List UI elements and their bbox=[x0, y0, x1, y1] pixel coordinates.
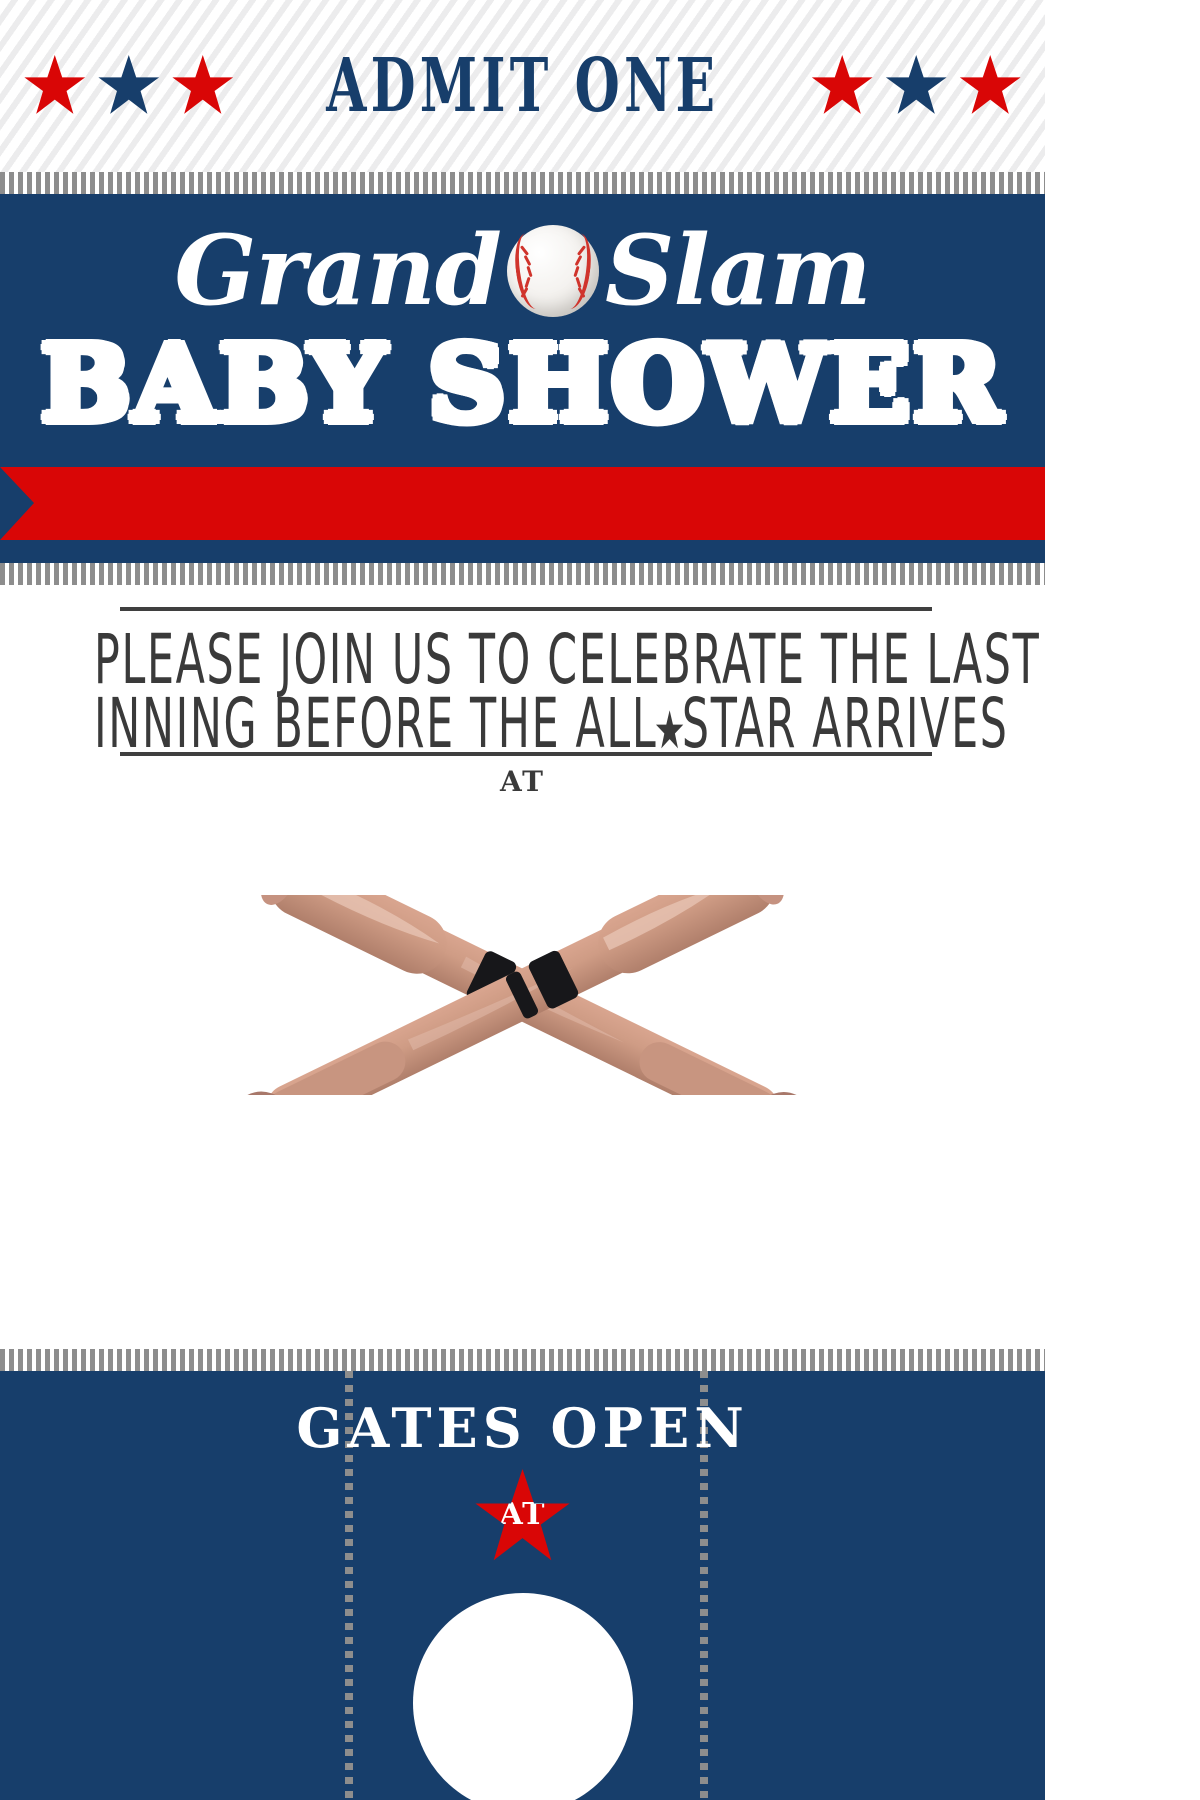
baseball-icon bbox=[507, 225, 599, 317]
red-ribbon-banner bbox=[0, 467, 1045, 540]
star-at-label: AT bbox=[500, 1497, 546, 1532]
invite-line-2: INNING BEFORE THE ALLSTAR ARRIVES bbox=[94, 689, 951, 757]
tick-divider-top bbox=[0, 172, 1045, 194]
gates-open-label: GATES OPEN bbox=[0, 1401, 1045, 1455]
baseball-icon bbox=[413, 1593, 633, 1800]
slam-word: Slam bbox=[605, 223, 871, 319]
invitation-card: ADMIT ONE Grand Slam bbox=[0, 0, 1045, 1800]
baby-shower-title: BABY SHOWER bbox=[0, 332, 1045, 436]
admit-one-label: ADMIT ONE bbox=[326, 49, 719, 123]
divider-rule-top bbox=[120, 607, 932, 611]
divider-rule-bottom bbox=[120, 752, 932, 756]
hero-banner: Grand Slam BABY SHOWER bbox=[0, 194, 1045, 563]
star-icon bbox=[811, 55, 873, 117]
admit-one-header: ADMIT ONE bbox=[0, 0, 1045, 172]
star-icon bbox=[98, 55, 160, 117]
body-section: PLEASE JOIN US TO CELEBRATE THE LAST INN… bbox=[0, 585, 1045, 1349]
star-icon bbox=[959, 55, 1021, 117]
star-icon bbox=[885, 55, 947, 117]
gates-open-section: GATES OPEN AT bbox=[0, 1371, 1045, 1800]
star-icon bbox=[24, 55, 86, 117]
at-label: AT bbox=[0, 765, 1045, 798]
star-icon bbox=[656, 710, 684, 750]
grand-slam-title: Grand Slam bbox=[0, 206, 1045, 336]
star-at-badge: AT bbox=[475, 1469, 571, 1565]
grand-word: Grand bbox=[174, 223, 501, 319]
tick-divider-bottom bbox=[0, 1349, 1045, 1371]
tick-divider-middle bbox=[0, 563, 1045, 585]
crossed-baseball-bats-icon bbox=[185, 895, 860, 1095]
star-icon bbox=[172, 55, 234, 117]
